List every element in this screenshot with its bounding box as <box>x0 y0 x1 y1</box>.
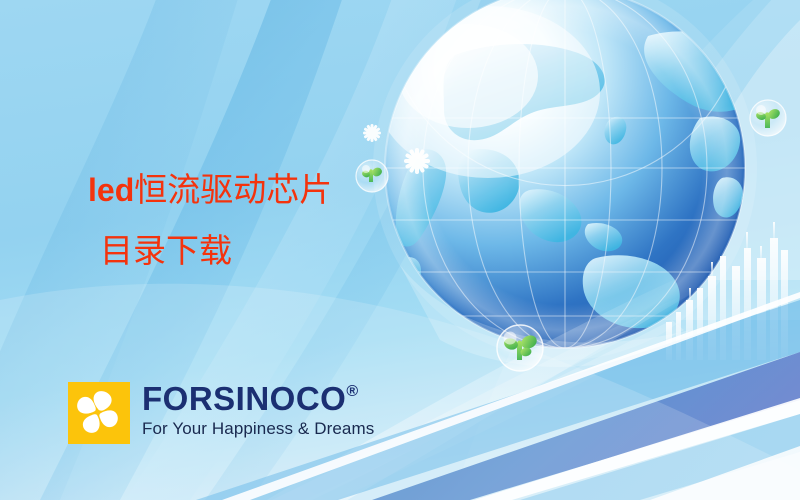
eco-bubble-lower-center <box>497 325 543 371</box>
forsinoco-logo[interactable]: FORSINOCO® For Your Happiness & Dreams <box>68 382 374 444</box>
promo-banner: led恒流驱动芯片 目录下载 FORSINOCO® For Your Happi… <box>0 0 800 500</box>
forsinoco-pinwheel-mark <box>68 382 130 444</box>
logo-company-text: FORSINOCO <box>142 382 346 417</box>
eco-bubble-upper-left <box>356 160 388 192</box>
pinwheel-icon <box>68 382 130 444</box>
registered-trademark-icon: ® <box>346 384 358 400</box>
logo-company-name: FORSINOCO® <box>142 382 374 417</box>
logo-tagline: For Your Happiness & Dreams <box>142 419 374 439</box>
logo-wordmark: FORSINOCO® For Your Happiness & Dreams <box>142 382 374 439</box>
eco-bubble-right <box>750 100 786 136</box>
